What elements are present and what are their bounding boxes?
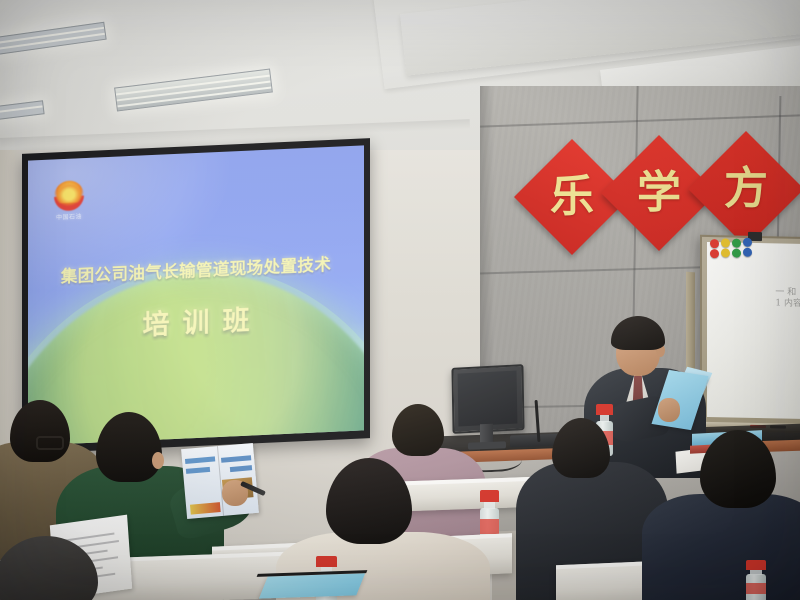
magnet-icon	[721, 248, 730, 257]
magnet-icon	[732, 238, 741, 247]
attendee-ear	[152, 452, 164, 469]
whiteboard: 一 和 1 内容	[700, 235, 800, 433]
sun-rays-icon	[56, 182, 82, 203]
eyeglasses-icon	[36, 436, 64, 450]
presenter-hand	[658, 398, 680, 422]
projection-screen: 中国石油 集团公司油气长输管道现场处置技术 培训班	[22, 138, 370, 454]
magnet-icon	[710, 239, 719, 248]
monitor-screen	[458, 371, 518, 427]
ceiling-light-icon	[0, 100, 45, 121]
banner-character: 乐	[531, 156, 613, 238]
magnet-icon	[743, 238, 752, 247]
brochure	[181, 443, 259, 519]
magnet-icon	[721, 238, 730, 247]
blue-folder	[259, 573, 365, 598]
brochure-band	[185, 456, 215, 464]
attendee-navy-suit-torso	[642, 494, 800, 600]
logo-caption: 中国石油	[52, 211, 86, 222]
brochure-band	[221, 455, 251, 463]
whiteboard-surface: 一 和 1 内容	[707, 242, 800, 419]
meeting-room-photo: 中国石油 集团公司油气长输管道现场处置技术 培训班 乐 学 方 一 和 1 内容	[0, 0, 800, 600]
projection-screen-surface: 中国石油 集团公司油气长输管道现场处置技术 培训班	[28, 145, 364, 445]
petrochina-logo: 中国石油	[52, 180, 86, 226]
magnet-icon	[743, 248, 752, 257]
whiteboard-handwriting: 一 和 1 内容	[775, 287, 800, 310]
ceiling-light-icon	[114, 69, 273, 112]
magnet-icon	[732, 248, 741, 257]
ceiling-light-icon	[0, 22, 107, 57]
magnet-icon	[710, 249, 719, 258]
brochure-band	[230, 465, 252, 472]
water-bottle	[746, 560, 766, 600]
banner-character: 学	[618, 152, 700, 234]
banner-character: 方	[705, 148, 787, 230]
brochure-band	[186, 467, 210, 474]
wall-banner-diamond: 方	[688, 131, 800, 247]
brochure-accent	[190, 502, 221, 515]
